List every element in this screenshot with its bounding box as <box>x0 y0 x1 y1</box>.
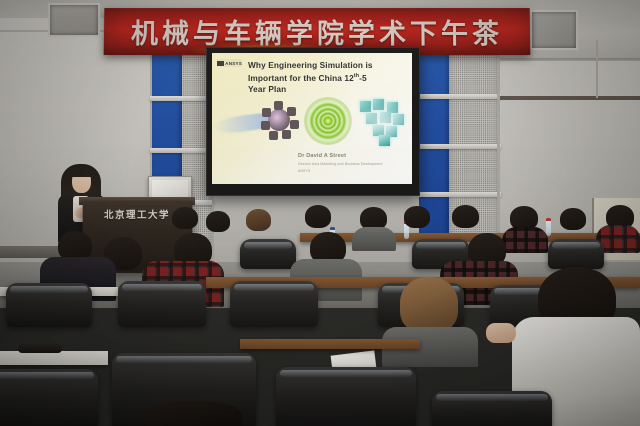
wall-rail <box>150 96 214 101</box>
desk <box>240 339 420 349</box>
auditorium-seat[interactable] <box>276 367 416 426</box>
attendee-head <box>305 205 331 228</box>
slide-title-line3: Year Plan <box>248 84 286 94</box>
ansys-logo-icon: ANSYS <box>217 59 242 67</box>
auditorium-seat[interactable] <box>6 283 92 327</box>
auditorium-seat[interactable] <box>230 281 318 327</box>
projection-screen: ANSYS Why Engineering Simulation is Impo… <box>212 53 412 184</box>
ceiling-vent-icon <box>48 3 100 37</box>
wall-rail <box>417 144 501 149</box>
auditorium-seat[interactable] <box>548 239 604 269</box>
wall-rail <box>417 192 501 197</box>
water-bottle <box>546 218 551 236</box>
attendee-head <box>146 401 242 426</box>
pencil-case[interactable] <box>18 344 62 353</box>
auditorium-seat[interactable] <box>432 391 552 426</box>
attendee-head <box>400 277 458 333</box>
attendee-head <box>452 205 479 228</box>
audience-area <box>0 205 640 426</box>
gear-icon <box>260 101 298 139</box>
auditorium-seat[interactable] <box>240 239 296 269</box>
slide-author-role: Director Asia Marketing and Business Dev… <box>298 162 383 166</box>
slide-author-org: ANSYS <box>298 169 310 173</box>
speaker-fringe <box>70 166 93 177</box>
attendee-head <box>206 211 230 232</box>
wall-rail <box>150 148 214 153</box>
wall-rail <box>417 94 501 99</box>
desk <box>0 351 108 365</box>
wall-seam <box>596 40 598 98</box>
wall-seam <box>500 96 640 100</box>
auditorium-seat[interactable] <box>118 281 206 327</box>
lecture-hall-photo: 机械与车辆学院学术下午茶 ANSYS Why Engineering Simul… <box>0 0 640 426</box>
attendee-hand <box>486 323 516 343</box>
attendee-torso <box>502 227 548 253</box>
attendee-head <box>246 209 271 231</box>
attendee-head <box>404 206 430 228</box>
artwork-glow <box>340 95 412 150</box>
slide-title-line1: Why Engineering Simulation is <box>248 60 373 70</box>
slide-author: Dr David A Street <box>298 153 346 159</box>
attendee-head <box>172 207 198 229</box>
slide-title-line2-post: -5 <box>359 73 367 83</box>
auditorium-seat[interactable] <box>0 369 98 426</box>
attendee-head <box>560 208 586 230</box>
ceiling-vent-icon <box>530 10 578 50</box>
ansys-logo-text: ANSYS <box>225 61 242 66</box>
slide-title: Why Engineering Simulation is Important … <box>248 60 398 95</box>
attendee-torso <box>352 227 396 251</box>
slide-title-line2: Important for the China 12 <box>248 73 354 83</box>
slide-artwork <box>212 95 412 150</box>
